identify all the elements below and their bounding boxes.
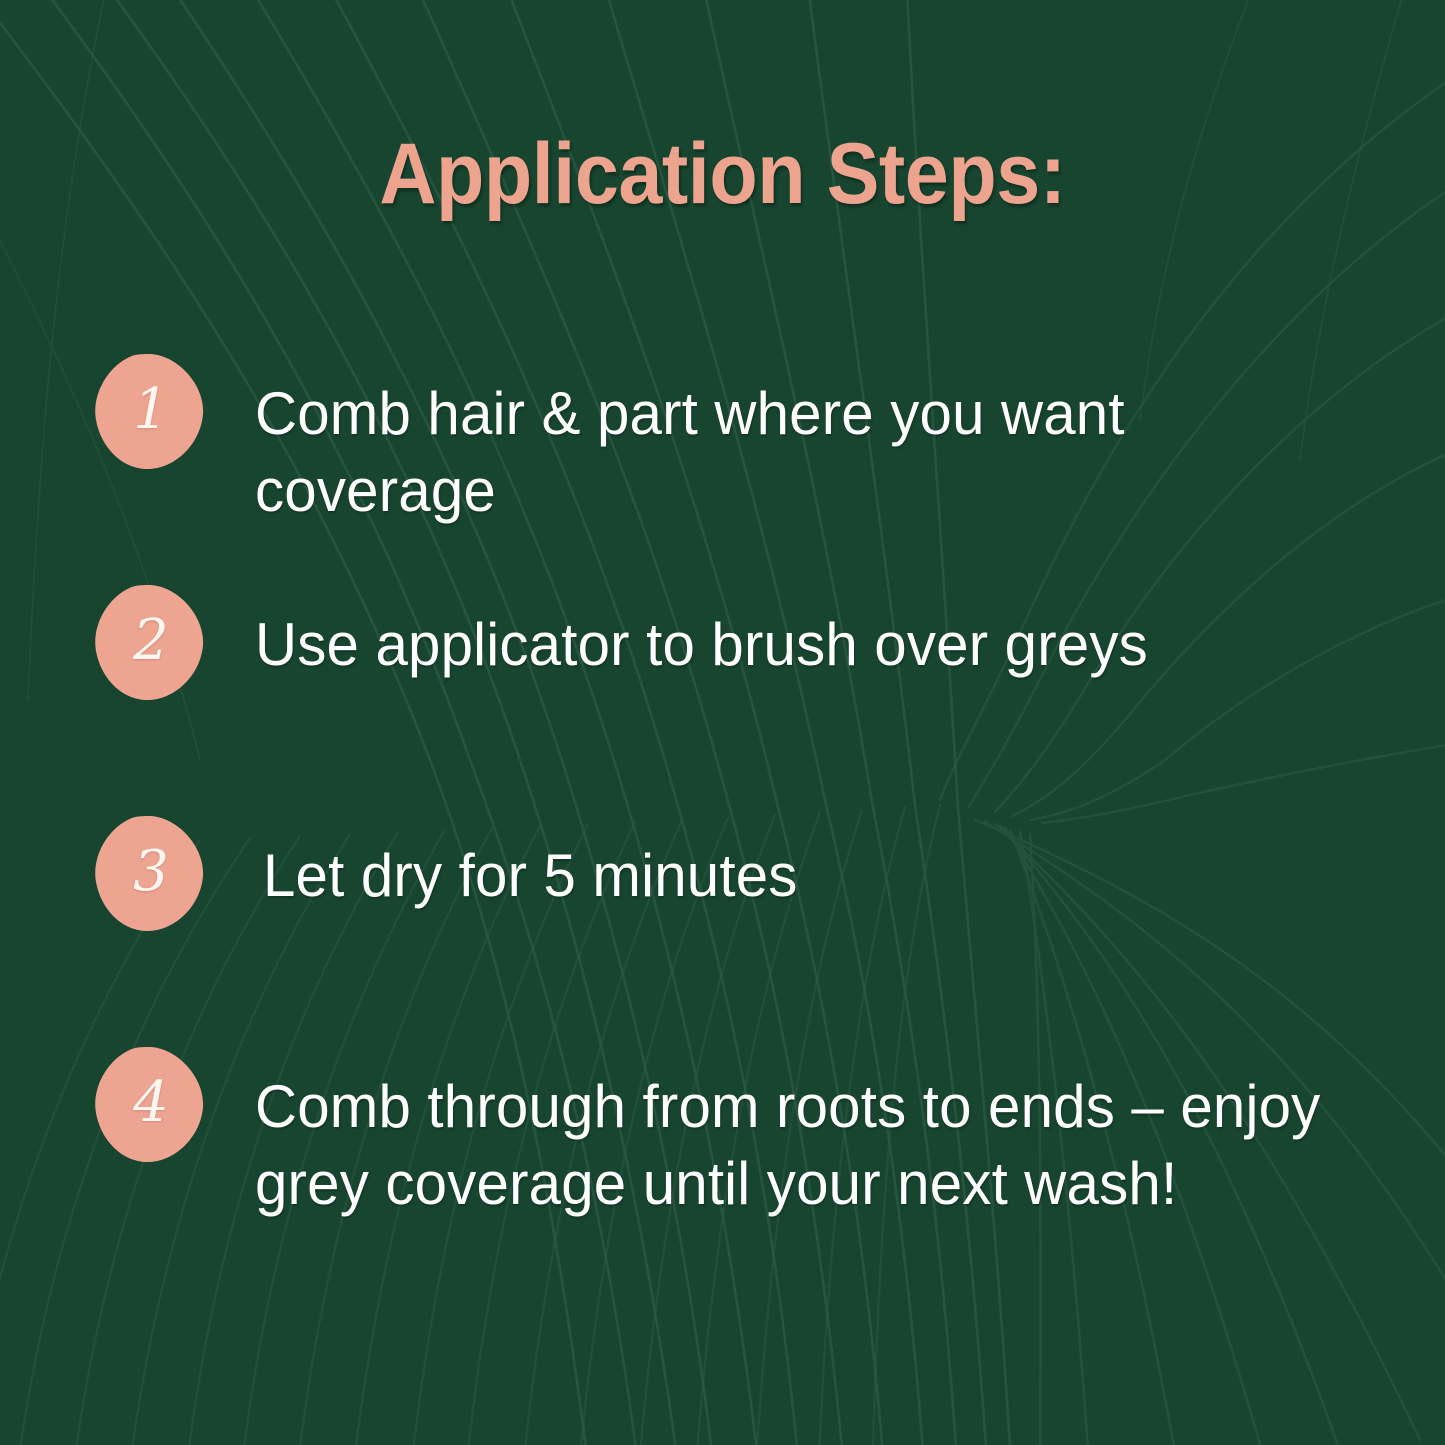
step-number-4: 4 (133, 1075, 169, 1131)
application-steps-panel: Application Steps: 1 Comb hair & part wh… (0, 0, 1445, 1445)
step-text-1: Comb hair & part where you want coverage (255, 376, 1409, 530)
step-item-3: 3 Let dry for 5 minutes (0, 814, 1445, 932)
step-badge-1: 1 (93, 352, 205, 470)
step-item-4: 4 Comb through from roots to ends – enjo… (0, 1045, 1445, 1223)
step-number-1: 1 (133, 382, 169, 438)
page-title: Application Steps: (58, 125, 1387, 224)
step-item-2: 2 Use applicator to brush over greys (0, 583, 1445, 701)
step-item-1: 1 Comb hair & part where you want covera… (0, 352, 1445, 530)
step-text-2: Use applicator to brush over greys (255, 607, 1409, 684)
step-number-2: 2 (133, 613, 169, 669)
step-number-3: 3 (133, 844, 169, 900)
step-badge-3: 3 (93, 814, 205, 932)
step-badge-2: 2 (93, 583, 205, 701)
step-text-3: Let dry for 5 minutes (263, 838, 1410, 915)
step-badge-4: 4 (93, 1045, 205, 1163)
step-text-4: Comb through from roots to ends – enjoy … (255, 1069, 1409, 1223)
